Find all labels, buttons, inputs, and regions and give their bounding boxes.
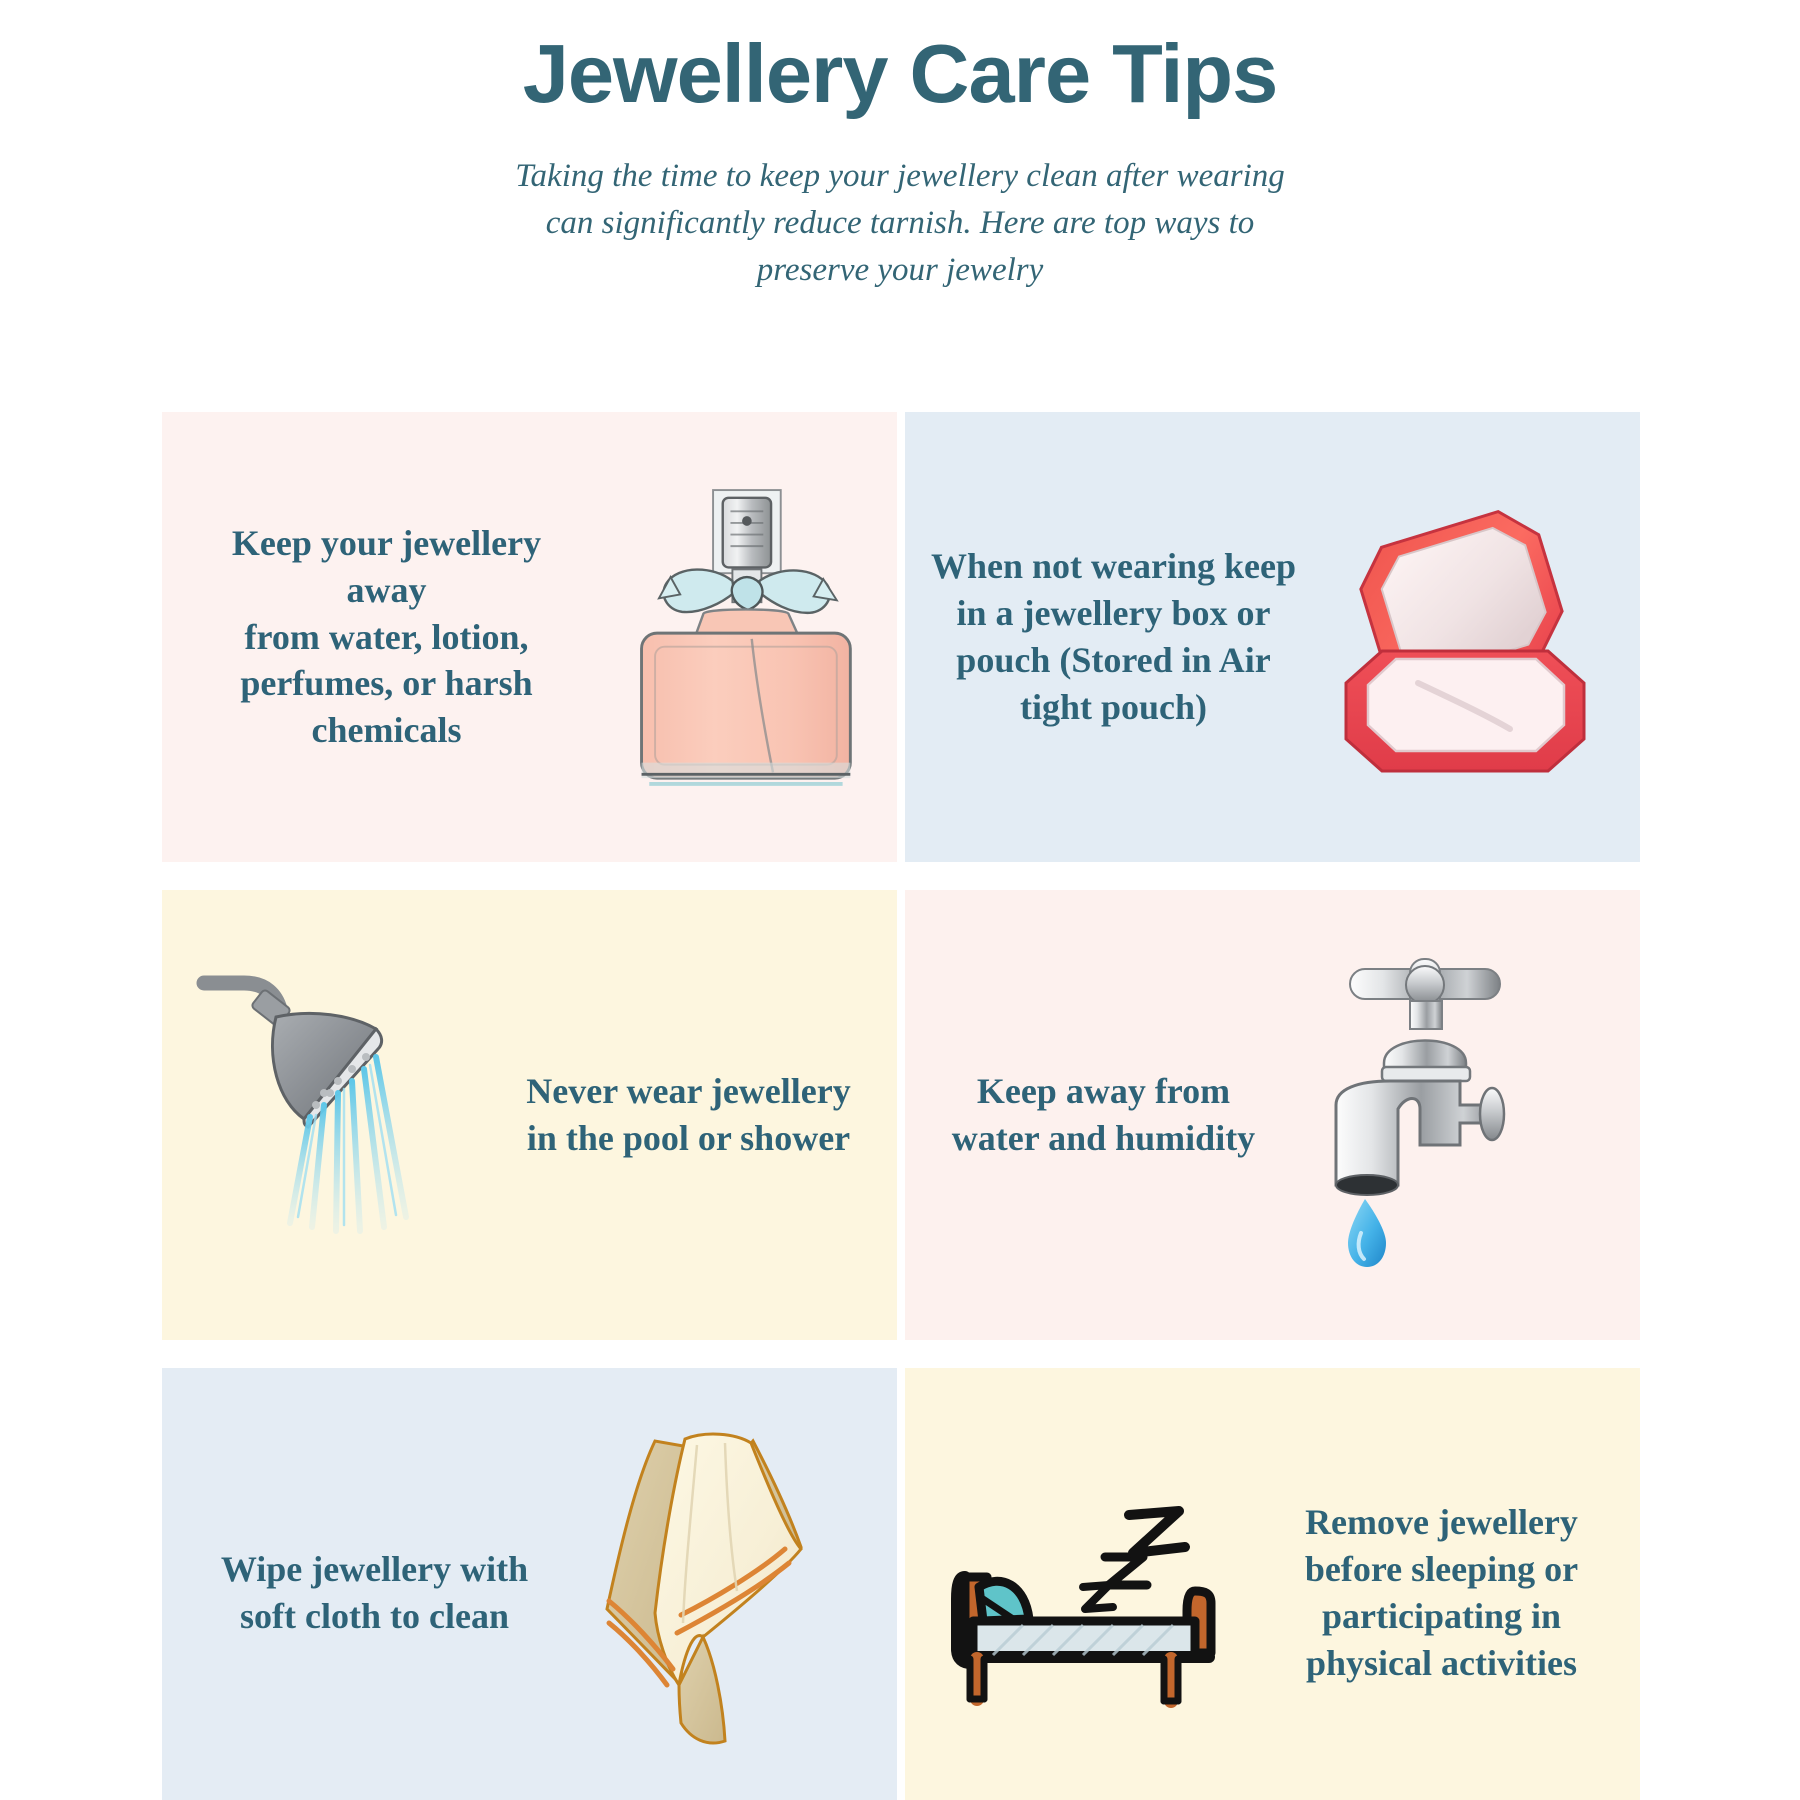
cloth-icon: [585, 1423, 855, 1763]
tip-text: Wipe jewellery with soft cloth to clean: [162, 1546, 585, 1640]
shower-head-icon: [192, 965, 492, 1265]
tips-grid: Keep your jewellery away from water, lot…: [162, 412, 1640, 1800]
tip-text: Keep your jewellery away from water, lot…: [162, 520, 599, 754]
tip-card-away-from-water[interactable]: Keep away from water and humidity: [905, 890, 1640, 1340]
ring-box-icon: [1322, 487, 1622, 787]
faucet-icon: [1302, 955, 1602, 1275]
tip-card-remove-before-sleep[interactable]: Remove jewellery before sleeping or part…: [905, 1368, 1640, 1800]
tip-text: Never wear jewellery in the pool or show…: [492, 1068, 897, 1162]
tip-text: Remove jewellery before sleeping or part…: [1243, 1499, 1640, 1686]
tip-card-away-from-chemicals[interactable]: Keep your jewellery away from water, lot…: [162, 412, 897, 862]
tip-card-no-pool-or-shower[interactable]: Never wear jewellery in the pool or show…: [162, 890, 897, 1340]
tip-text: Keep away from water and humidity: [905, 1068, 1302, 1162]
page-title: Jewellery Care Tips: [0, 30, 1800, 117]
perfume-bottle-icon: [599, 472, 889, 802]
tip-card-wipe-with-cloth[interactable]: Wipe jewellery with soft cloth to clean: [162, 1368, 897, 1800]
bed-sleeping-icon: [943, 1453, 1243, 1733]
header: Jewellery Care Tips Taking the time to k…: [0, 0, 1800, 294]
tip-card-store-in-box[interactable]: When not wearing keep in a jewellery box…: [905, 412, 1640, 862]
tip-text: When not wearing keep in a jewellery box…: [905, 543, 1322, 730]
page-subtitle: Taking the time to keep your jewellery c…: [500, 153, 1300, 294]
infographic-page: Jewellery Care Tips Taking the time to k…: [0, 0, 1800, 1800]
